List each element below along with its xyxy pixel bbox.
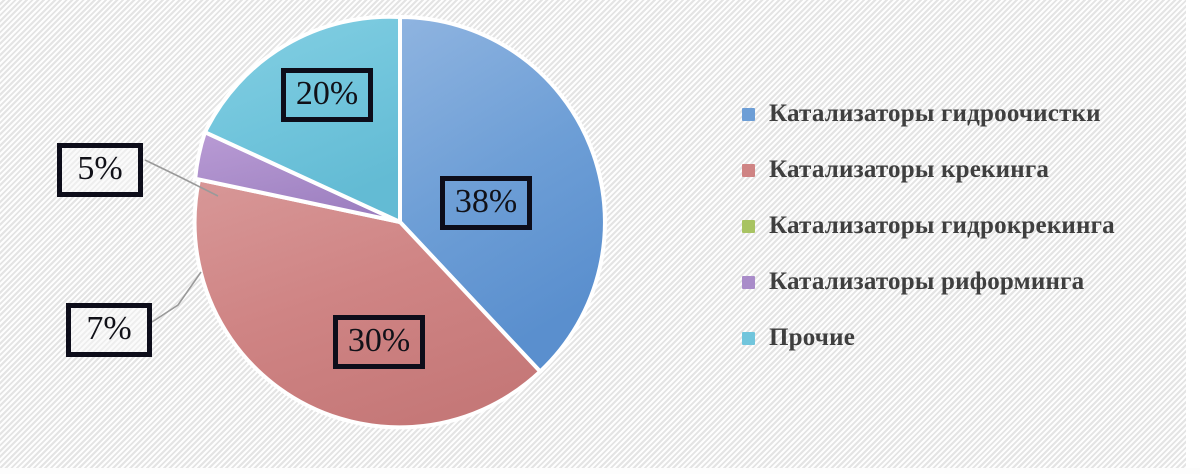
- legend-item-label: Катализаторы риформинга: [769, 268, 1084, 296]
- legend-item-catalysts-hydrotreating[interactable]: Катализаторы гидроочистки: [742, 86, 1182, 142]
- legend-swatch-icon: [742, 332, 755, 345]
- legend-item-label: Прочие: [769, 324, 855, 352]
- legend-item-label: Катализаторы гидроочистки: [769, 100, 1101, 128]
- slide-right-margin: [1186, 0, 1200, 474]
- pie-chart-svg: [150, 0, 650, 474]
- legend-swatch-icon: [742, 108, 755, 121]
- slide-canvas: 38% 30% 20% 5% 7% Катализаторы гидроочис…: [0, 0, 1200, 474]
- legend-item-other[interactable]: Прочие: [742, 310, 1182, 366]
- legend-swatch-icon: [742, 220, 755, 233]
- pie-label-catalysts-cracking: 30%: [333, 315, 425, 369]
- legend-item-catalysts-reforming[interactable]: Катализаторы риформинга: [742, 254, 1182, 310]
- pie-label-catalysts-hydrotreating: 38%: [440, 176, 532, 230]
- chart-legend: Катализаторы гидроочистки Катализаторы к…: [742, 86, 1182, 366]
- legend-item-label: Катализаторы крекинга: [769, 156, 1049, 184]
- pie-label-catalysts-reforming: 5%: [57, 143, 143, 197]
- pie-chart: [150, 0, 650, 474]
- legend-swatch-icon: [742, 276, 755, 289]
- legend-item-catalysts-hydrocracking[interactable]: Катализаторы гидрокрекинга: [742, 198, 1182, 254]
- legend-swatch-icon: [742, 164, 755, 177]
- slide-bottom-margin: [0, 468, 1200, 474]
- pie-label-catalysts-hydrocracking: 7%: [66, 303, 152, 357]
- legend-item-catalysts-cracking[interactable]: Катализаторы крекинга: [742, 142, 1182, 198]
- pie-label-other: 20%: [281, 68, 373, 122]
- legend-item-label: Катализаторы гидрокрекинга: [769, 212, 1115, 240]
